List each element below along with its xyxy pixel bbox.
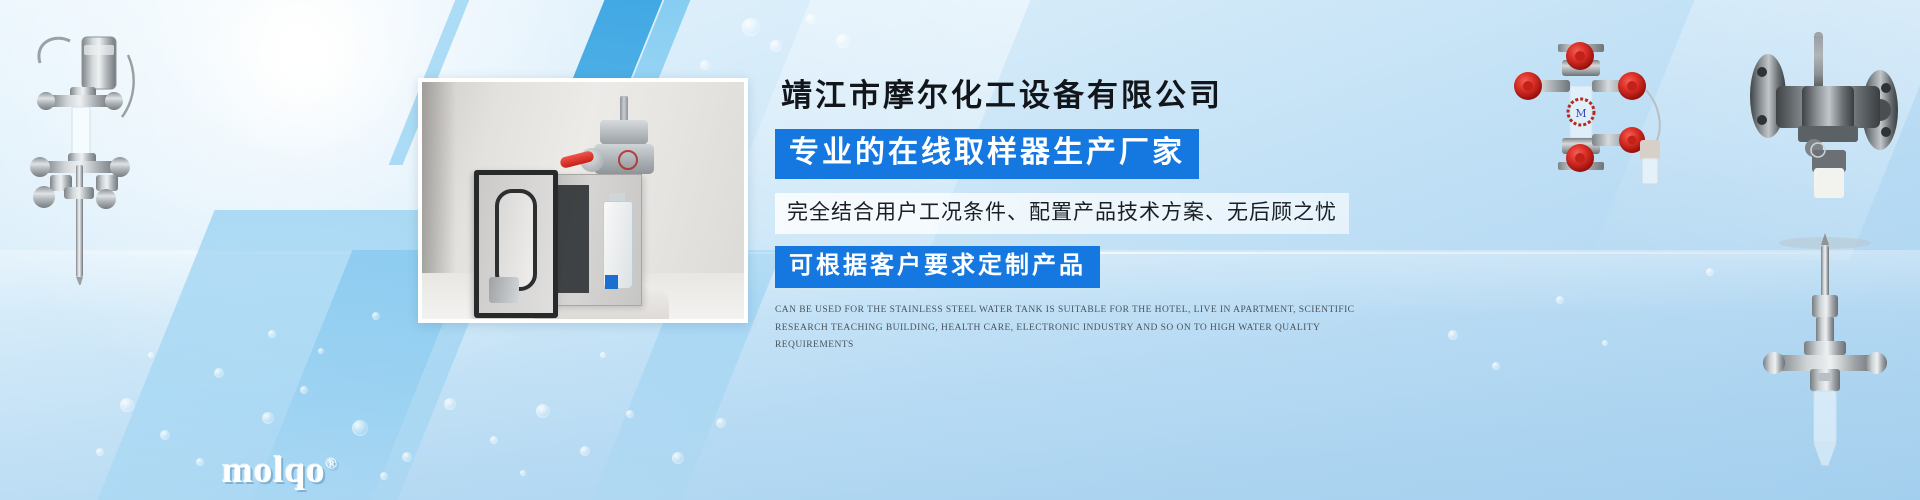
water-droplet bbox=[770, 40, 782, 52]
sun-ray bbox=[234, 3, 304, 55]
water-droplet bbox=[380, 472, 388, 480]
water-droplet bbox=[372, 312, 380, 320]
water-droplet bbox=[806, 14, 816, 24]
water-droplet bbox=[444, 398, 456, 410]
water-droplet bbox=[120, 398, 134, 412]
water-droplet bbox=[196, 458, 204, 466]
svg-text:M: M bbox=[1575, 107, 1586, 120]
water-droplet bbox=[402, 452, 412, 462]
water-droplet bbox=[580, 446, 590, 456]
sun-ray bbox=[303, 0, 305, 55]
water-droplet bbox=[672, 452, 684, 464]
water-droplet bbox=[96, 448, 104, 456]
water-droplet bbox=[520, 470, 526, 476]
sun-ray bbox=[303, 0, 356, 56]
sun-ray bbox=[238, 0, 304, 55]
water-droplet bbox=[300, 386, 308, 394]
water-droplet bbox=[490, 436, 498, 444]
water-droplet bbox=[716, 418, 726, 428]
right-top-product-image: M bbox=[1512, 30, 1692, 190]
sun-ray bbox=[301, 55, 303, 215]
sub-headline: 完全结合用户工况条件、配置产品技术方案、无后顾之忧 bbox=[775, 193, 1349, 234]
water-droplet bbox=[1492, 362, 1500, 370]
english-description: CAN BE USED FOR THE STAINLESS STEEL WATE… bbox=[775, 302, 1390, 355]
sun-ray bbox=[301, 55, 350, 121]
water-droplet bbox=[160, 430, 170, 440]
callout-badge: 可根据客户要求定制产品 bbox=[775, 246, 1100, 288]
right-valve-product-image bbox=[1740, 30, 1910, 210]
water-droplet bbox=[536, 404, 550, 418]
water-droplet bbox=[214, 368, 224, 378]
sun-ray bbox=[303, 0, 413, 57]
sun-ray bbox=[303, 55, 453, 57]
sun-ray bbox=[231, 54, 303, 152]
water-droplet bbox=[626, 410, 634, 418]
sun-ray bbox=[257, 0, 305, 55]
sun-ray bbox=[303, 0, 344, 56]
sun-ray bbox=[301, 55, 338, 165]
sun-ray bbox=[179, 13, 303, 55]
sun-ray bbox=[302, 55, 388, 85]
water-droplet bbox=[1448, 330, 1458, 340]
water-droplet bbox=[1556, 296, 1564, 304]
sun-ray bbox=[302, 55, 408, 133]
right-bottom-product-image bbox=[1760, 225, 1890, 475]
water-droplet bbox=[352, 420, 368, 436]
center-product-photo bbox=[418, 78, 748, 323]
banner-copy: 靖江市摩尔化工设备有限公司 专业的在线取样器生产厂家 完全结合用户工况条件、配置… bbox=[775, 80, 1415, 364]
water-droplet bbox=[742, 18, 760, 36]
sun-glow bbox=[188, 0, 418, 170]
sun-ray bbox=[169, 53, 303, 98]
water-droplet bbox=[1602, 340, 1608, 346]
left-product-image bbox=[10, 25, 160, 285]
company-name: 靖江市摩尔化工设备有限公司 bbox=[781, 80, 1415, 111]
water-droplet bbox=[262, 412, 274, 424]
water-droplet bbox=[836, 34, 850, 48]
headline-badge: 专业的在线取样器生产厂家 bbox=[775, 129, 1199, 179]
registered-mark: ® bbox=[326, 457, 338, 473]
water-droplet bbox=[148, 352, 154, 358]
water-droplet bbox=[600, 352, 606, 358]
water-droplet bbox=[268, 330, 276, 338]
brand-logo: molqo® bbox=[222, 452, 338, 489]
sun-ray bbox=[225, 53, 303, 110]
water-droplet bbox=[700, 60, 710, 70]
water-droplet bbox=[1706, 268, 1714, 276]
sun-ray bbox=[303, 24, 399, 57]
sun-ray bbox=[275, 54, 303, 135]
water-droplet bbox=[318, 348, 324, 354]
brand-logo-text: molqo bbox=[222, 450, 326, 491]
promo-banner: 靖江市摩尔化工设备有限公司 专业的在线取样器生产厂家 完全结合用户工况条件、配置… bbox=[0, 0, 1920, 500]
sun-ray bbox=[203, 53, 303, 55]
